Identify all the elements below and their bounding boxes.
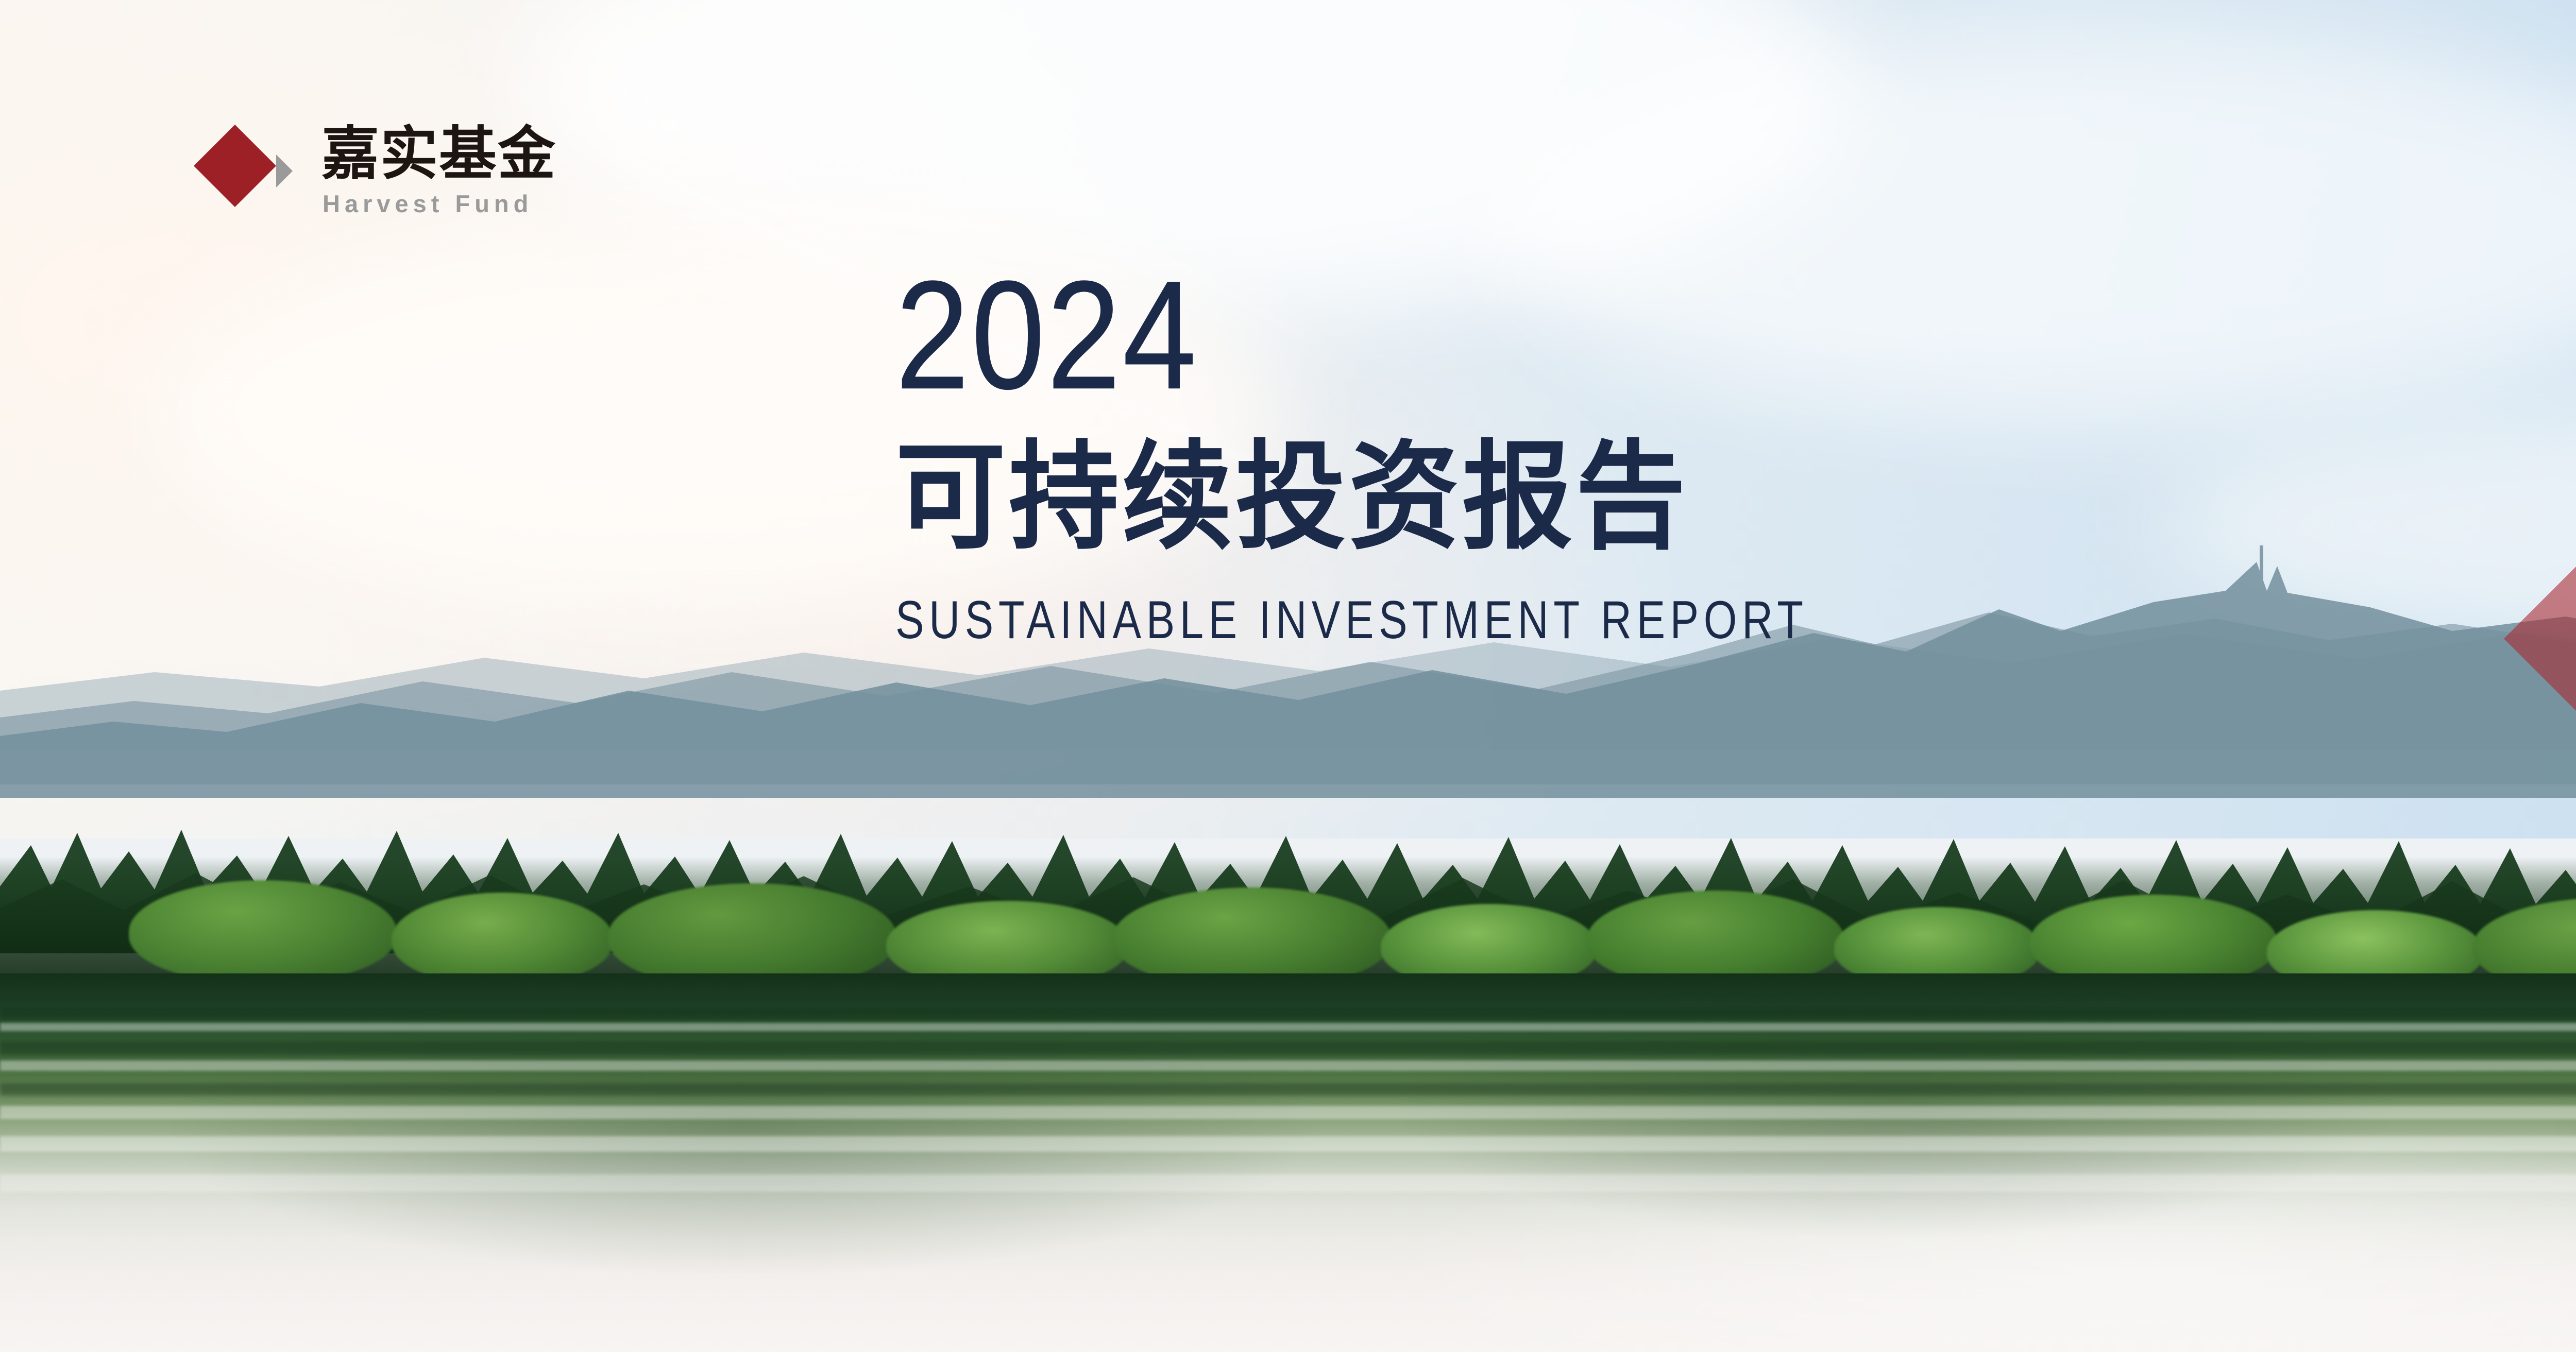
water-ripple-dark <box>0 1041 2576 1055</box>
canopy-cluster <box>392 893 613 985</box>
canopy-cluster <box>608 883 896 989</box>
harvest-diamond-arrow-icon <box>190 119 293 223</box>
logo-name-en: Harvest Fund <box>321 191 556 217</box>
cover-title-en: SUSTAINABLE INVESTMENT REPORT <box>895 593 1808 647</box>
water-ripple <box>0 1023 2576 1031</box>
harvest-fund-logo[interactable]: 嘉实基金 Harvest Fund <box>190 119 556 223</box>
lake-water <box>0 973 2576 1352</box>
logo-wordmark: 嘉实基金 Harvest Fund <box>321 125 556 217</box>
report-cover: 嘉实基金 Harvest Fund 2024 可持续投资报告 SUSTAINAB… <box>0 0 2576 1352</box>
canopy-cluster <box>129 880 397 983</box>
water-ripple-dark <box>0 1007 2576 1019</box>
water-ripple <box>0 1136 2576 1152</box>
canopy-cluster <box>1113 887 1391 988</box>
cover-year: 2024 <box>895 258 1877 412</box>
logo-name-cn: 嘉实基金 <box>321 125 556 183</box>
water-ripple <box>0 1174 2576 1192</box>
cover-title-cn: 可持续投资报告 <box>895 439 1968 556</box>
water-ripple <box>0 1060 2576 1071</box>
cover-title-block: 2024 可持续投资报告 SUSTAINABLE INVESTMENT REPO… <box>895 258 2037 647</box>
water-ripple-dark <box>0 1083 2576 1096</box>
water-ripple <box>0 1106 2576 1119</box>
